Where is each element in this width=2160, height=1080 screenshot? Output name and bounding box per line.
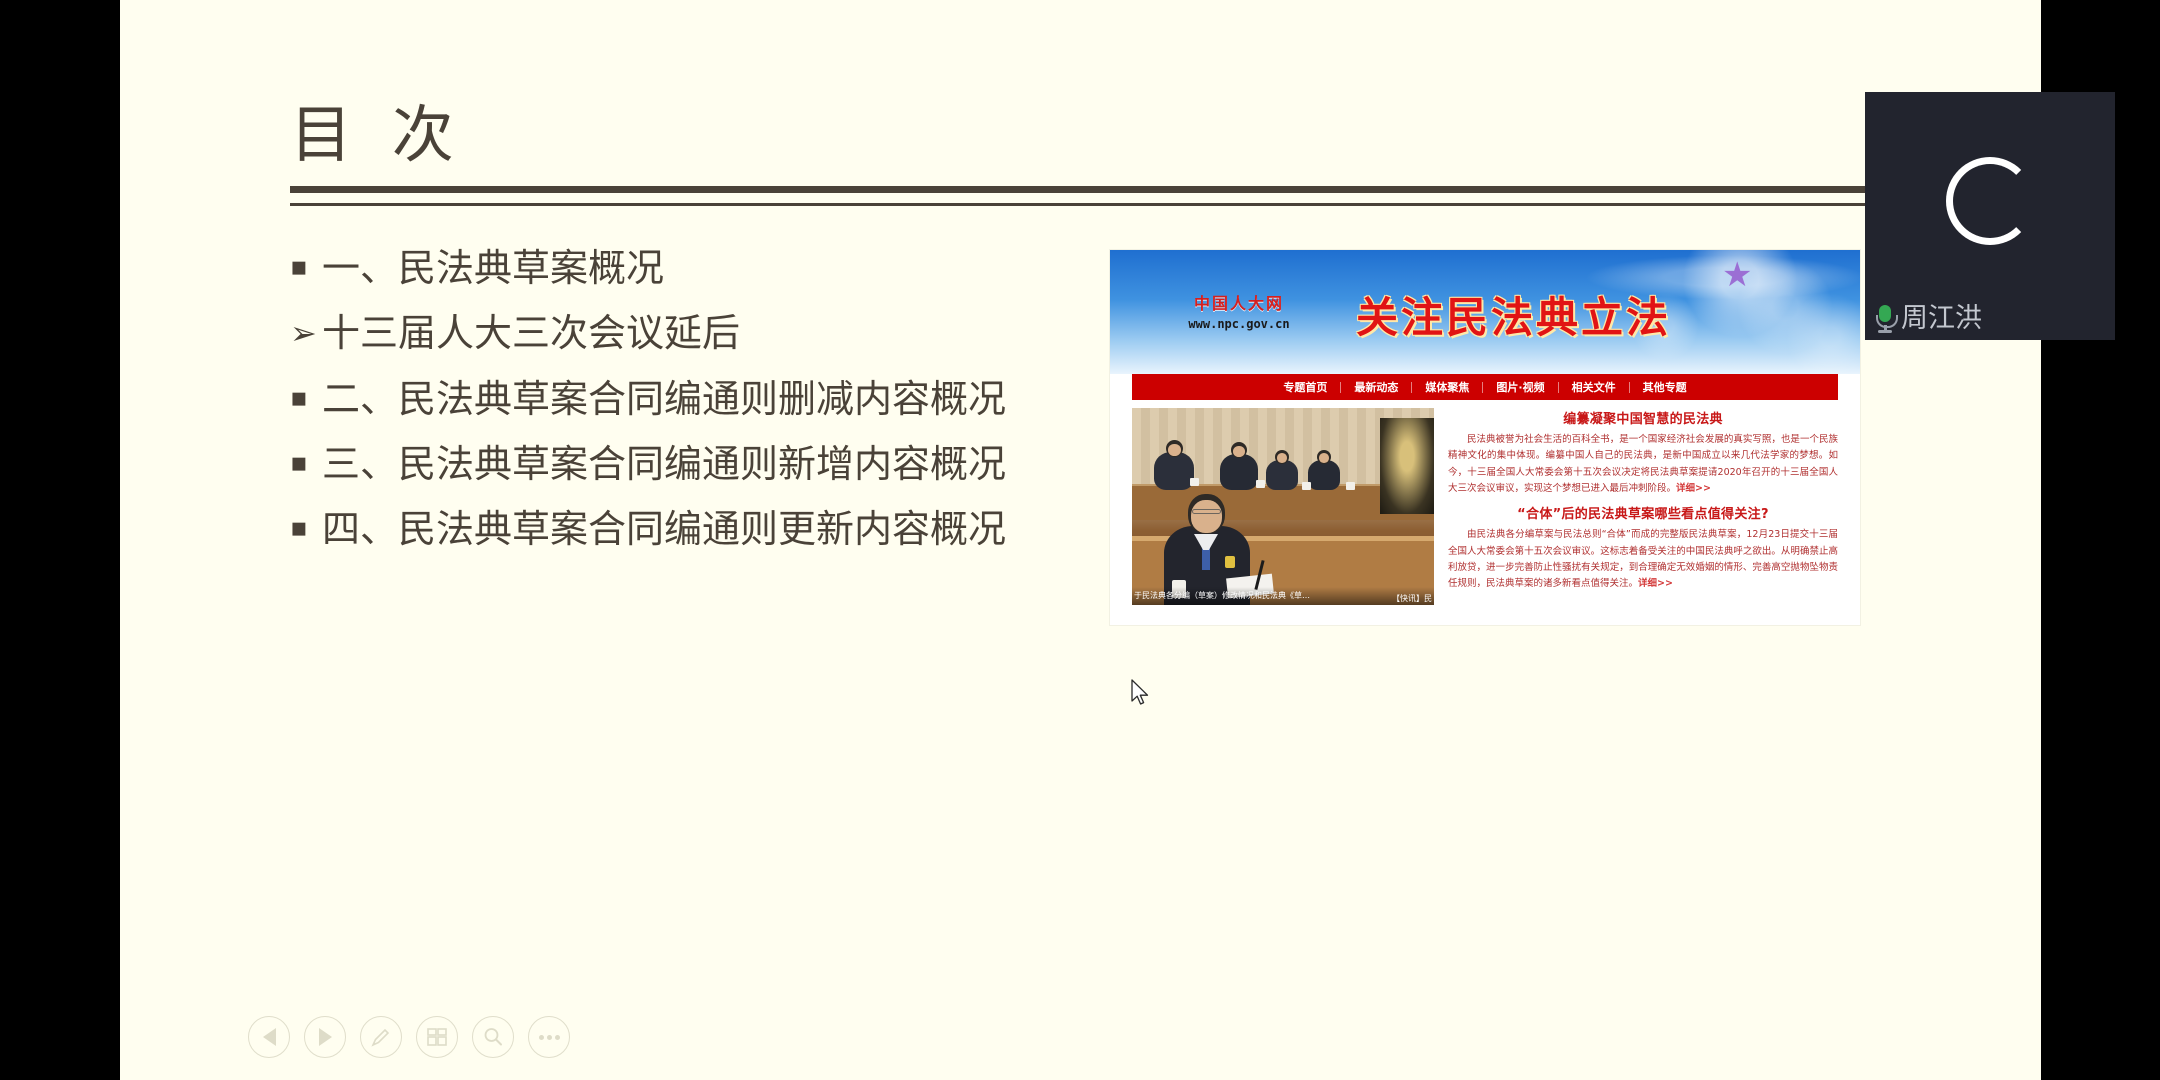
npc-logo: 中国人大网 www.npc.gov.cn: [1164, 290, 1314, 331]
npc-logo-text: 中国人大网: [1164, 290, 1314, 314]
website-banner: ★ 中国人大网 www.npc.gov.cn 关注民法典立法: [1110, 250, 1860, 374]
title-divider-thin: [290, 203, 2040, 206]
photo-person: [1154, 452, 1194, 490]
slide-canvas: 目 次 ▪ 一、民法典草案概况 ➢ 十三届人大三次会议延后 ▪ 二、民法典草案合…: [120, 0, 2041, 1080]
triangle-left-icon: [263, 1028, 276, 1046]
square-bullet-icon: ▪: [290, 245, 322, 291]
nav-item-news: 最新动态: [1341, 382, 1412, 393]
list-item: ▪ 一、民法典草案概况: [290, 245, 1050, 291]
ellipsis-icon: [539, 1035, 560, 1040]
photo-person: [1266, 460, 1298, 490]
article-body: 民法典被誉为社会生活的百科全书，是一个国家经济社会发展的真实写照，也是一个民族精…: [1448, 432, 1838, 497]
list-item: ➢ 十三届人大三次会议延后: [290, 310, 1050, 356]
list-item-label: 四、民法典草案合同编通则更新内容概况: [322, 506, 1006, 552]
zoom-button[interactable]: [472, 1016, 514, 1058]
pen-button[interactable]: [360, 1016, 402, 1058]
video-participant-tile[interactable]: 周江洪: [1865, 92, 2115, 340]
participant-name-badge: 周江洪: [1875, 304, 1982, 332]
list-item: ▪ 二、民法典草案合同编通则删减内容概况: [290, 376, 1050, 422]
square-bullet-icon: ▪: [290, 376, 322, 422]
photo-cup: [1346, 482, 1355, 490]
article-headline: 编纂凝聚中国智慧的民法典: [1448, 408, 1838, 427]
article-headline: “合体”后的民法典草案哪些看点值得关注?: [1448, 503, 1838, 522]
photo-person-face: [1277, 453, 1287, 463]
nav-item-photos: 图片·视频: [1483, 382, 1558, 393]
square-bullet-icon: ▪: [290, 441, 322, 487]
magnifier-icon: [481, 1025, 505, 1049]
title-divider-thick: [290, 186, 2040, 193]
more-options-button[interactable]: [528, 1016, 570, 1058]
photo-speaker-face: [1191, 500, 1222, 533]
photo-speaker-badge: [1225, 556, 1235, 568]
photo-person: [1220, 454, 1258, 490]
article-body: 由民法典各分编草案与民法总则“合体”而成的完整版民法典草案，12月23日提交十三…: [1448, 527, 1838, 592]
list-item-label: 十三届人大三次会议延后: [322, 310, 740, 356]
previous-slide-button[interactable]: [248, 1016, 290, 1058]
loading-spinner-icon: [1946, 157, 2034, 245]
photo-person: [1308, 460, 1340, 490]
mouse-cursor: [1130, 679, 1152, 709]
npc-logo-url: www.npc.gov.cn: [1164, 317, 1314, 331]
list-item-label: 二、民法典草案合同编通则删减内容概况: [322, 376, 1006, 422]
triangle-right-icon: [319, 1028, 332, 1046]
website-nav: 专题首页 最新动态 媒体聚焦 图片·视频 相关文件 其他专题: [1132, 374, 1838, 400]
photo-cup: [1302, 482, 1311, 490]
website-body: 于民法典各分编（草案）修改情况和民法典《草… 【快讯】民 编纂凝聚中国智慧的民法…: [1132, 408, 1838, 608]
article-body-text: 民法典被誉为社会生活的百科全书，是一个国家经济社会发展的真实写照，也是一个民族精…: [1448, 434, 1838, 494]
outline-list: ▪ 一、民法典草案概况 ➢ 十三届人大三次会议延后 ▪ 二、民法典草案合同编通则…: [290, 245, 1050, 572]
nav-item-media: 媒体聚焦: [1412, 382, 1483, 393]
photo-flash-label: 【快讯】民: [1392, 593, 1432, 604]
photo-speaker-glasses: [1192, 509, 1221, 514]
photo-person-face: [1233, 446, 1245, 457]
meeting-photo: 于民法典各分编（草案）修改情况和民法典《草… 【快讯】民: [1132, 408, 1434, 605]
pen-icon: [369, 1025, 393, 1049]
article-column: 编纂凝聚中国智慧的民法典 民法典被誉为社会生活的百科全书，是一个国家经济社会发展…: [1448, 402, 1838, 593]
photo-cup: [1190, 478, 1199, 486]
nav-item-home: 专题首页: [1270, 382, 1341, 393]
photo-person-face: [1319, 453, 1329, 463]
presentation-stage: 目 次 ▪ 一、民法典草案概况 ➢ 十三届人大三次会议延后 ▪ 二、民法典草案合…: [0, 0, 2160, 1080]
presenter-toolbar: [248, 1016, 570, 1058]
nav-item-other: 其他专题: [1630, 382, 1700, 393]
npc-website-screenshot: ★ 中国人大网 www.npc.gov.cn 关注民法典立法 专题首页 最新动态…: [1110, 250, 1860, 625]
list-item-label: 三、民法典草案合同编通则新增内容概况: [322, 441, 1006, 487]
photo-person-face: [1168, 444, 1181, 456]
banner-title: 关注民法典立法: [1356, 284, 1671, 345]
list-item: ▪ 四、民法典草案合同编通则更新内容概况: [290, 506, 1050, 552]
article-more-link[interactable]: 详细>>: [1676, 483, 1711, 494]
list-item-label: 一、民法典草案概况: [322, 245, 664, 291]
grid-icon: [425, 1025, 449, 1049]
next-slide-button[interactable]: [304, 1016, 346, 1058]
microphone-icon[interactable]: [1875, 304, 1895, 332]
article-more-link[interactable]: 详细>>: [1638, 578, 1673, 589]
slide-overview-button[interactable]: [416, 1016, 458, 1058]
participant-name: 周江洪: [1901, 305, 1982, 332]
photo-screen: [1380, 418, 1434, 514]
square-bullet-icon: ▪: [290, 506, 322, 552]
photo-cup: [1256, 480, 1265, 488]
nav-item-docs: 相关文件: [1559, 382, 1630, 393]
photo-caption: 于民法典各分编（草案）修改情况和民法典《草…: [1132, 587, 1434, 605]
arrow-bullet-icon: ➢: [290, 310, 322, 356]
list-item: ▪ 三、民法典草案合同编通则新增内容概况: [290, 441, 1050, 487]
page-title: 目 次: [290, 84, 464, 174]
